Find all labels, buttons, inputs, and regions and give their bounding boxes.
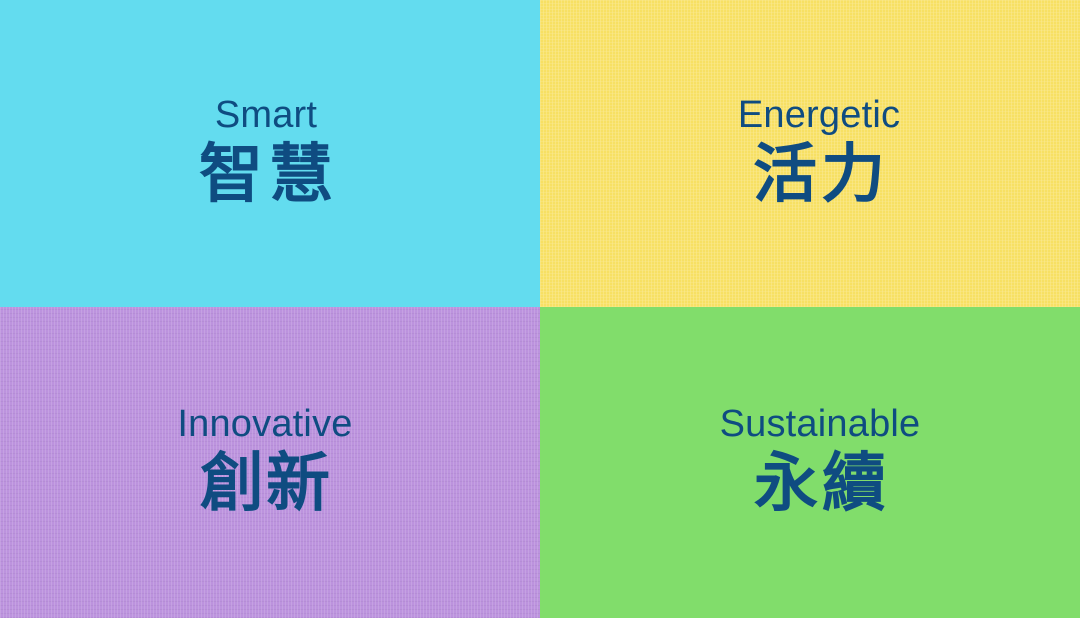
quadrant-text-smart: Smart 智慧: [193, 96, 339, 212]
brand-values-poster: Smart 智慧 Energetic 活力 Innovative 創新 Sust…: [0, 0, 1080, 618]
quadrant-energetic: Energetic 活力: [540, 0, 1080, 307]
quadrant-text-sustainable: Sustainable 永續: [720, 405, 921, 521]
quadrant-sustainable: Sustainable 永續: [540, 307, 1080, 618]
quadrant-label-zh-energetic: 活力: [738, 140, 900, 212]
quadrant-label-en-energetic: Energetic: [738, 96, 900, 134]
quadrant-label-zh-sustainable: 永續: [720, 449, 921, 521]
quadrant-text-energetic: Energetic 活力: [738, 96, 900, 212]
quadrant-label-zh-smart: 智慧: [193, 140, 339, 212]
quadrant-text-innovative: Innovative 創新: [177, 405, 352, 521]
quadrant-smart: Smart 智慧: [0, 0, 540, 307]
quadrant-label-en-innovative: Innovative: [177, 405, 352, 443]
quadrant-label-en-sustainable: Sustainable: [720, 405, 921, 443]
quadrant-label-zh-innovative: 創新: [177, 449, 352, 521]
quadrant-label-en-smart: Smart: [193, 96, 339, 134]
quadrant-innovative: Innovative 創新: [0, 307, 540, 618]
